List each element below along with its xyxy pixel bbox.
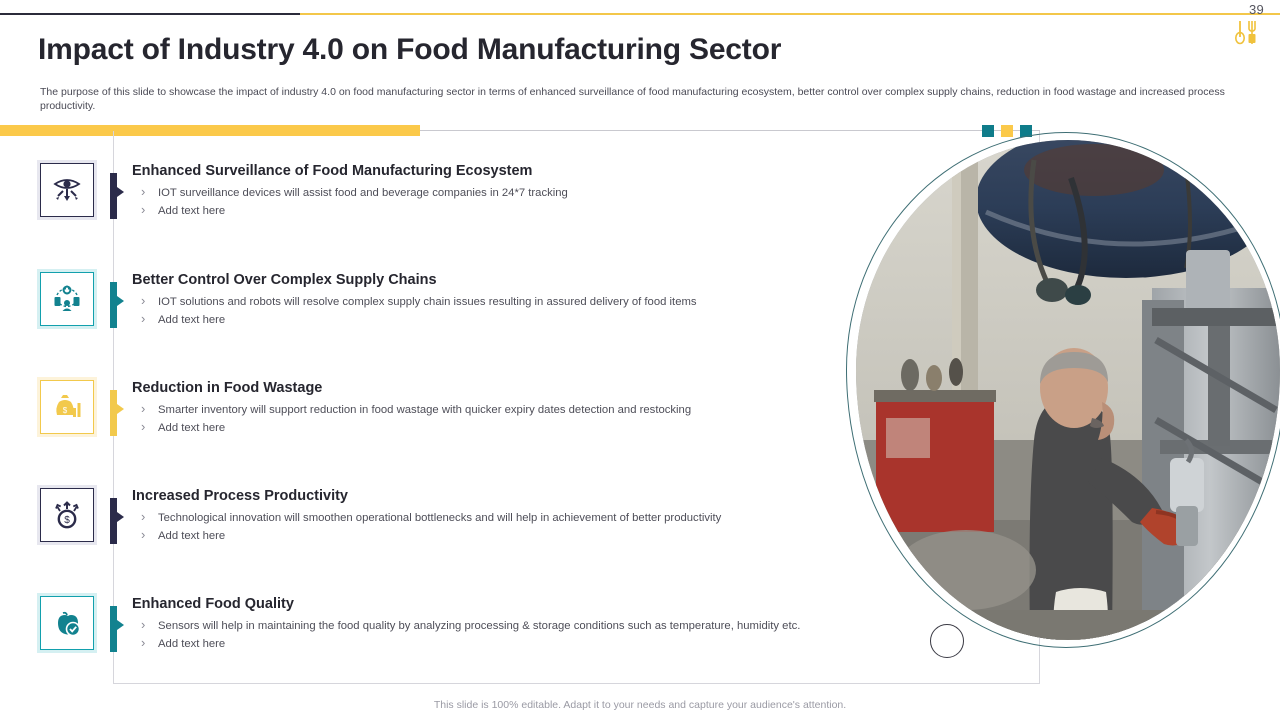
item-bullets: Technological innovation will smoothen o… bbox=[136, 510, 896, 545]
item-title: Enhanced Food Quality bbox=[132, 596, 294, 612]
accent-arrow-1 bbox=[117, 187, 124, 197]
bullet: Technological innovation will smoothen o… bbox=[136, 510, 896, 527]
eye-surveillance-icon bbox=[50, 173, 84, 207]
apple-check-quality-icon bbox=[50, 606, 84, 640]
accent-arrow-3 bbox=[117, 404, 124, 414]
accent-bar-2 bbox=[110, 282, 117, 328]
accent-arrow-5 bbox=[117, 620, 124, 630]
ring-dot-marker bbox=[930, 624, 964, 658]
footer-note: This slide is 100% editable. Adapt it to… bbox=[0, 699, 1280, 711]
accent-arrow-2 bbox=[117, 296, 124, 306]
icon-box-4[interactable]: $ bbox=[40, 488, 94, 542]
bullet: IOT surveillance devices will assist foo… bbox=[136, 185, 896, 202]
top-rule-dark bbox=[0, 13, 300, 15]
item-bullets: IOT surveillance devices will assist foo… bbox=[136, 185, 896, 220]
bullet: Sensors will help in maintaining the foo… bbox=[136, 618, 896, 635]
slide-description: The purpose of this slide to showcase th… bbox=[40, 86, 1236, 113]
bullet: Add text here bbox=[136, 528, 896, 545]
item-title: Better Control Over Complex Supply Chain… bbox=[132, 272, 437, 288]
item-title: Reduction in Food Wastage bbox=[132, 380, 322, 396]
bullet: Add text here bbox=[136, 203, 896, 220]
svg-text:$: $ bbox=[63, 406, 68, 415]
svg-text:$: $ bbox=[64, 515, 70, 526]
item-title: Enhanced Surveillance of Food Manufactur… bbox=[132, 163, 532, 179]
page-title: Impact of Industry 4.0 on Food Manufactu… bbox=[38, 33, 781, 67]
accent-bar-4 bbox=[110, 498, 117, 544]
item-bullets: IOT solutions and robots will resolve co… bbox=[136, 294, 896, 329]
item-bullets: Smarter inventory will support reduction… bbox=[136, 402, 896, 437]
bullet: Smarter inventory will support reduction… bbox=[136, 402, 896, 419]
top-rule-yellow bbox=[300, 13, 1280, 15]
accent-bar-1 bbox=[110, 173, 117, 219]
icon-box-2[interactable] bbox=[40, 272, 94, 326]
icon-box-5[interactable] bbox=[40, 596, 94, 650]
item-bullets: Sensors will help in maintaining the foo… bbox=[136, 618, 896, 653]
page-number: 39 bbox=[1249, 2, 1264, 17]
icon-box-1[interactable] bbox=[40, 163, 94, 217]
bullet: Add text here bbox=[136, 312, 896, 329]
accent-bar-5 bbox=[110, 606, 117, 652]
money-bag-chart-icon: $ bbox=[50, 390, 84, 424]
supply-chain-network-icon bbox=[50, 282, 84, 316]
bullet: Add text here bbox=[136, 420, 896, 437]
item-title: Increased Process Productivity bbox=[132, 488, 348, 504]
factory-worker-operating-machinery-photo bbox=[856, 140, 1280, 640]
photo-container bbox=[856, 140, 1280, 640]
bullet: Add text here bbox=[136, 636, 896, 653]
accent-arrow-4 bbox=[117, 512, 124, 522]
fork-and-spoon-icon bbox=[1232, 18, 1258, 48]
bullet: IOT solutions and robots will resolve co… bbox=[136, 294, 896, 311]
accent-bar-3 bbox=[110, 390, 117, 436]
coin-growth-icon: $ bbox=[50, 498, 84, 532]
icon-box-3[interactable]: $ bbox=[40, 380, 94, 434]
